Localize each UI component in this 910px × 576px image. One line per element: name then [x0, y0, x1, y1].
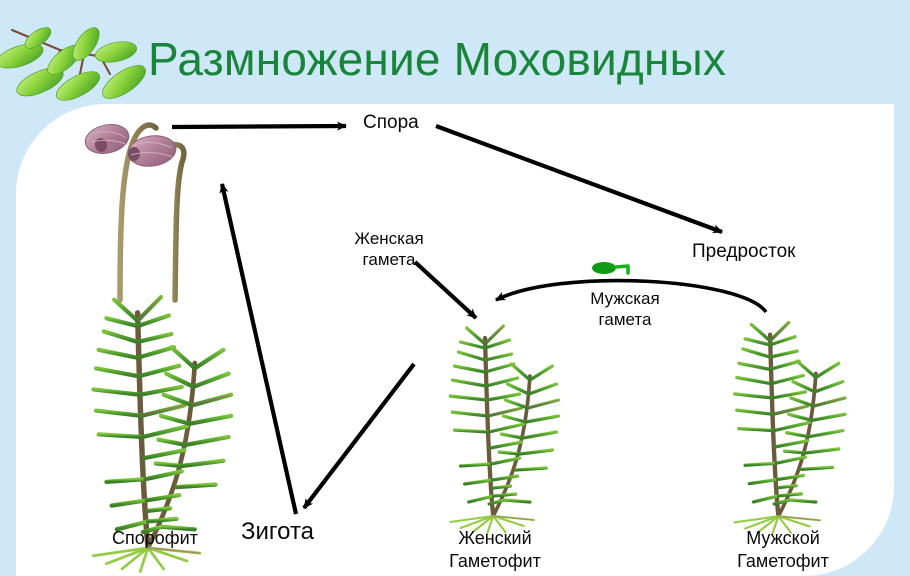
label-spore: Спора: [363, 112, 419, 134]
label-male-gamete: Мужская гамета: [576, 288, 674, 330]
label-protonema: Предросток: [692, 241, 795, 263]
label-female-gametophyte: Женский Гаметофит: [435, 527, 555, 573]
leaf-branch-icon: [0, 8, 168, 112]
label-female-gamete: Женская гамета: [343, 228, 435, 270]
content-card: [16, 104, 894, 576]
label-zygote: Зигота: [241, 518, 314, 546]
page-title: Размножение Моховидных: [148, 33, 726, 85]
slide-canvas: Размножение Моховидных: [0, 0, 910, 576]
label-sporophyte: Спорофит: [112, 527, 198, 549]
label-male-gametophyte: Мужской Гаметофит: [723, 527, 843, 573]
